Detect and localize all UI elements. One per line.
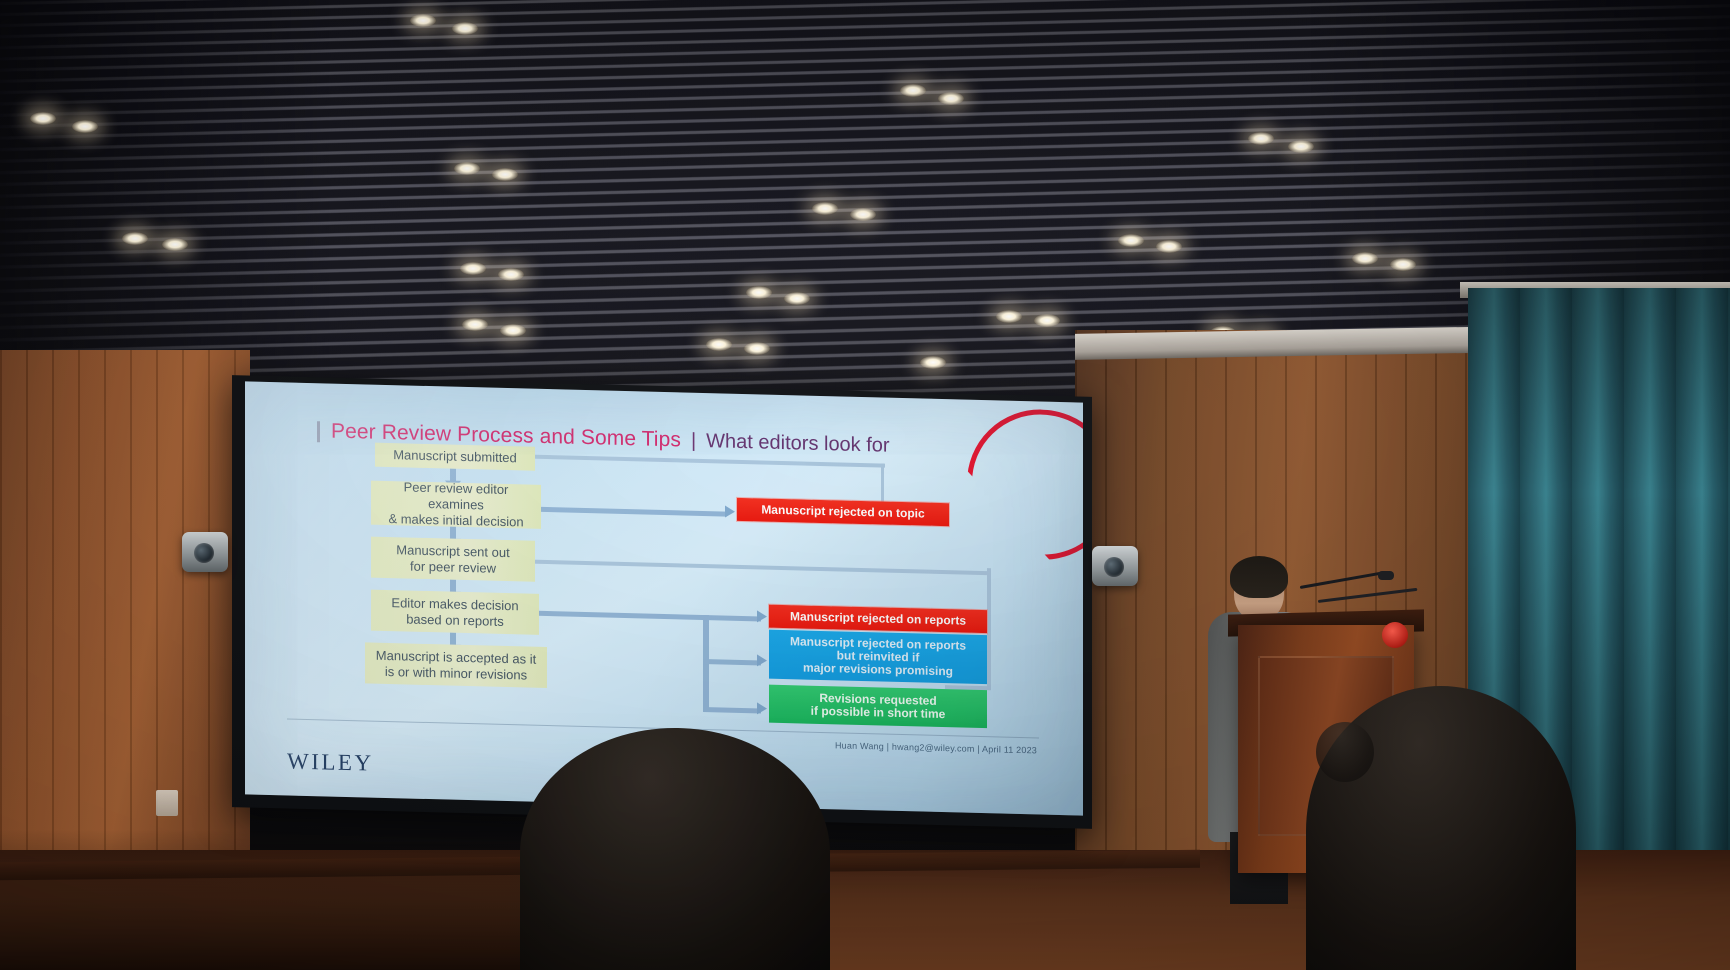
ceiling-light [72, 120, 98, 133]
audience-head-center [520, 728, 830, 970]
arrow-branch-o3 [757, 654, 767, 666]
presentation-room-photo: Peer Review Process and Some Tips | What… [0, 0, 1730, 970]
ceiling-light [996, 310, 1022, 323]
microphone-icon [1378, 571, 1394, 580]
ceiling-light [462, 318, 488, 331]
flow-node-manuscript-accepted: Manuscript is accepted as it is or with … [365, 642, 547, 688]
connector-return-to-n3 [473, 558, 991, 575]
ceiling-light [938, 92, 964, 105]
flow-node-editor-examines: Peer review editor examines & makes init… [371, 481, 541, 529]
ceiling-light [410, 14, 436, 27]
ceiling-light [500, 324, 526, 337]
ceiling-shadow-left [0, 0, 330, 400]
ceiling-light [1156, 240, 1182, 253]
node-label: Manuscript rejected on topic [761, 503, 924, 522]
security-camera-left-icon [182, 532, 228, 572]
flow-node-rejected-on-reports: Manuscript rejected on reports [769, 605, 987, 634]
arrow-branch-o2 [757, 610, 767, 622]
ceiling-light [1352, 252, 1378, 265]
connector-branch-o3 [703, 659, 761, 665]
ceiling-light [492, 168, 518, 181]
flow-node-revisions-requested: Revisions requested if possible in short… [769, 685, 987, 729]
node-label-line1: Peer review editor examines [377, 479, 535, 515]
ceiling-light [746, 286, 772, 299]
connector-o1-return-horizontal [475, 453, 885, 467]
ceiling-light [850, 208, 876, 221]
node-label: Manuscript rejected on reports [790, 609, 966, 628]
arrow-n2-o1 [725, 506, 735, 518]
ceiling-light [460, 262, 486, 275]
ceiling-light [744, 342, 770, 355]
ceiling-light [162, 238, 188, 251]
ceiling-light [1248, 132, 1274, 145]
flow-node-rejected-but-reinvited: Manuscript rejected on reports but reinv… [769, 630, 987, 685]
ceiling-light [784, 292, 810, 305]
wall-socket[interactable] [156, 790, 178, 816]
ceiling-light [452, 22, 478, 35]
ceiling-light [900, 84, 926, 97]
ceiling-light [1034, 314, 1060, 327]
ceiling-light [1390, 258, 1416, 271]
node-label: Manuscript submitted [393, 447, 517, 466]
ceiling-light [706, 338, 732, 351]
flow-node-manuscript-submitted: Manuscript submitted [375, 443, 535, 471]
security-camera-right-icon [1092, 546, 1138, 586]
podium-emblem-icon [1382, 622, 1408, 648]
node-label-line2: is or with minor revisions [385, 663, 527, 682]
node-label-line2: & makes initial decision [388, 511, 523, 530]
node-label-line2: if possible in short time [811, 705, 946, 722]
ceiling-light [920, 356, 946, 369]
arrow-branch-o4 [757, 702, 767, 714]
ceiling-light [812, 202, 838, 215]
node-label-line2: for peer review [410, 558, 496, 576]
ceiling-light [30, 112, 56, 125]
ceiling-light [122, 232, 148, 245]
connector-branch-o4 [703, 707, 761, 713]
flow-node-editor-decision: Editor makes decision based on reports [371, 590, 539, 635]
node-label-line2: based on reports [406, 611, 504, 629]
connector-branch-o2 [703, 615, 761, 621]
flow-node-rejected-on-topic: Manuscript rejected on topic [737, 498, 949, 526]
ceiling-light [1118, 234, 1144, 247]
node-label-line3: major revisions promising [803, 662, 953, 679]
presenter-hair [1230, 556, 1288, 598]
floor-shadow [0, 830, 560, 970]
ceiling-light [1288, 140, 1314, 153]
connector-right-trunk [987, 568, 991, 688]
wiley-logo: WILEY [287, 748, 374, 776]
audience-shoulder-right [1316, 722, 1374, 782]
flow-node-sent-out-for-review: Manuscript sent out for peer review [371, 537, 535, 582]
ceiling-light [498, 268, 524, 281]
ceiling-light [454, 162, 480, 175]
